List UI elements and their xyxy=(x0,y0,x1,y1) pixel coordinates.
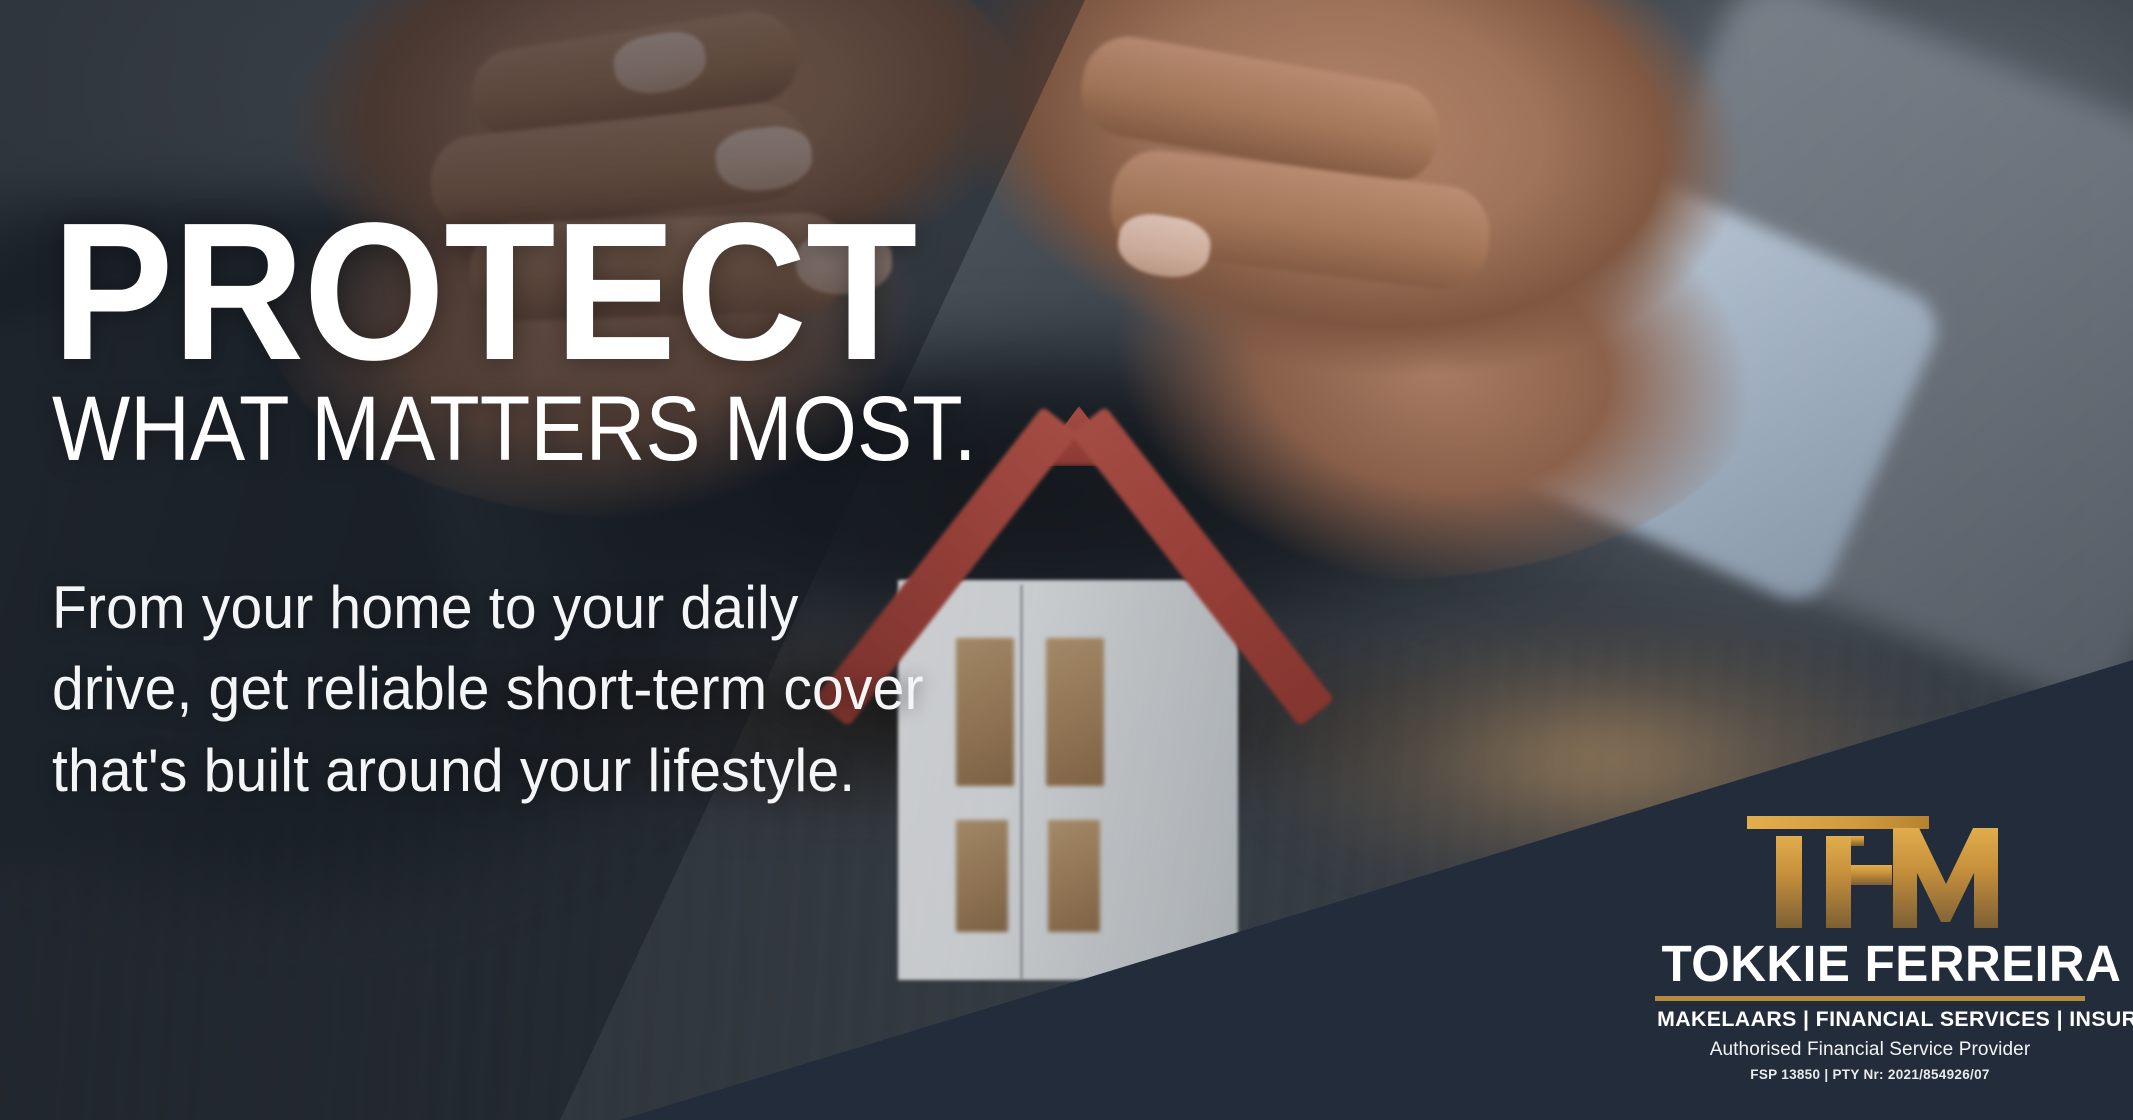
logo-gold-divider xyxy=(1655,996,2085,1001)
body-copy-line-2: drive, get reliable short-term cover xyxy=(52,648,1116,730)
logo-company-name: TOKKIE FERREIRA xyxy=(1661,938,2078,989)
logo-registration-line: FSP 13850 | PTY Nr: 2021/854926/07 xyxy=(1655,1068,2085,1082)
brand-logo: TOKKIE FERREIRA MAKELAARS | FINANCIAL SE… xyxy=(1655,812,2085,1081)
copy-block: PROTECT WHAT MATTERS MOST. From your hom… xyxy=(52,212,1172,812)
tfm-monogram-icon xyxy=(1655,812,2085,934)
headline: PROTECT xyxy=(52,212,1094,373)
subheadline: WHAT MATTERS MOST. xyxy=(52,383,1060,475)
body-copy-line-3: that's built around your lifestyle. xyxy=(52,730,1116,812)
insurance-promo-banner: PROTECT WHAT MATTERS MOST. From your hom… xyxy=(0,0,2133,1120)
body-copy-line-1: From your home to your daily xyxy=(52,567,1116,649)
logo-services-line: MAKELAARS | FINANCIAL SERVICES | INSURAN… xyxy=(1657,1009,2083,1031)
body-copy: From your home to your daily drive, get … xyxy=(52,567,1116,812)
logo-authorisation-line: Authorised Financial Service Provider xyxy=(1655,1040,2085,1059)
